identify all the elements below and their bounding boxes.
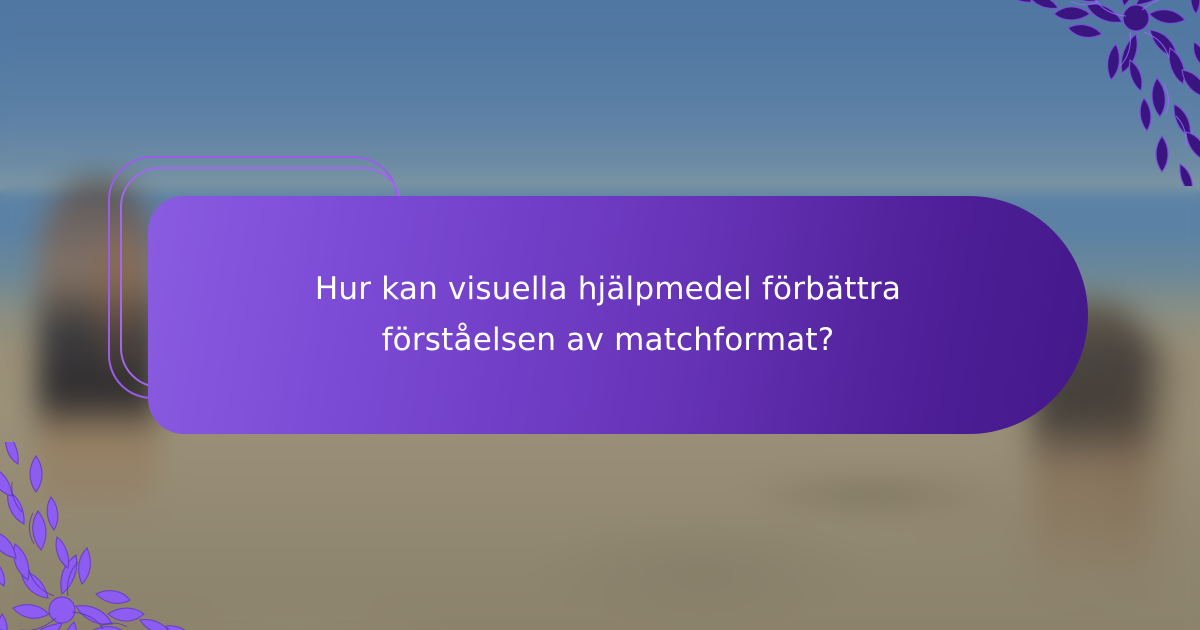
blurred-person-right-secondary	[1108, 336, 1178, 586]
quote-card-graphic: Hur kan visuella hjälpmedel förbättra fö…	[0, 0, 1200, 630]
quote-text: Hur kan visuella hjälpmedel förbättra fö…	[278, 264, 938, 366]
quote-card: Hur kan visuella hjälpmedel förbättra fö…	[148, 196, 1088, 434]
sand-shadow	[740, 470, 1000, 518]
